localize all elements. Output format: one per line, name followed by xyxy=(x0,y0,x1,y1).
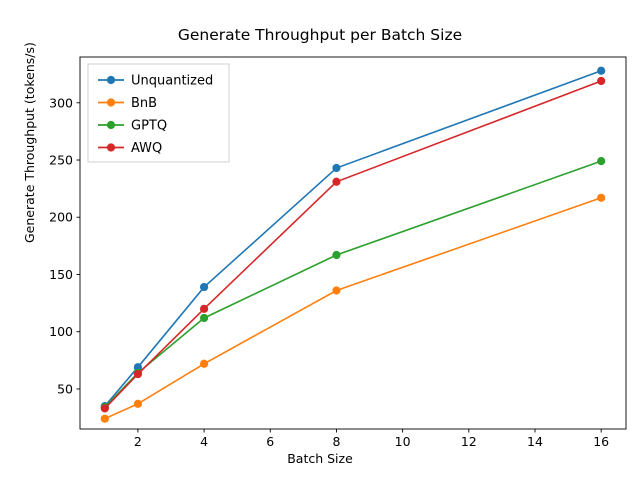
legend-label-unquantized[interactable]: Unquantized xyxy=(131,74,213,89)
chart-legend[interactable]: UnquantizedBnBGPTQAWQ xyxy=(88,64,229,162)
data-point xyxy=(332,164,340,172)
legend-swatch-marker xyxy=(107,98,115,106)
series-bnb xyxy=(101,194,606,423)
x-tick-label: 12 xyxy=(461,434,477,449)
data-point xyxy=(597,77,605,85)
data-point xyxy=(597,194,605,202)
data-point xyxy=(134,370,142,378)
x-tick-label: 8 xyxy=(332,434,340,449)
legend-label-bnb[interactable]: BnB xyxy=(131,96,157,111)
series-line xyxy=(105,198,601,419)
plot-area: 246810121416 50100150200250300 Unquantiz… xyxy=(0,0,640,480)
y-tick-label: 100 xyxy=(49,324,73,339)
x-tick-label: 16 xyxy=(593,434,609,449)
y-tick-label: 150 xyxy=(49,267,73,282)
x-tick-label: 4 xyxy=(200,434,208,449)
x-tick-label: 10 xyxy=(395,434,411,449)
x-tick-label: 14 xyxy=(527,434,543,449)
data-point xyxy=(101,415,109,423)
data-point xyxy=(332,178,340,186)
legend-swatch-marker xyxy=(107,143,115,151)
x-tick-label: 6 xyxy=(266,434,274,449)
data-point xyxy=(200,314,208,322)
x-tick-label: 2 xyxy=(134,434,142,449)
y-axis-ticks: 50100150200250300 xyxy=(49,95,80,396)
y-tick-label: 200 xyxy=(49,210,73,225)
x-axis-ticks: 246810121416 xyxy=(134,429,609,449)
y-tick-label: 250 xyxy=(49,153,73,168)
data-point xyxy=(597,157,605,165)
legend-label-awq[interactable]: AWQ xyxy=(131,141,162,156)
data-point xyxy=(134,400,142,408)
y-tick-label: 50 xyxy=(57,381,73,396)
data-point xyxy=(332,286,340,294)
legend-swatch-marker xyxy=(107,121,115,129)
legend-label-gptq[interactable]: GPTQ xyxy=(131,119,167,134)
data-point xyxy=(200,305,208,313)
chart-figure: Generate Throughput per Batch Size Gener… xyxy=(0,0,640,480)
y-tick-label: 300 xyxy=(49,95,73,110)
data-point xyxy=(200,360,208,368)
data-point xyxy=(101,404,109,412)
data-point xyxy=(200,283,208,291)
data-point xyxy=(332,251,340,259)
data-point xyxy=(597,67,605,75)
legend-swatch-marker xyxy=(107,76,115,84)
